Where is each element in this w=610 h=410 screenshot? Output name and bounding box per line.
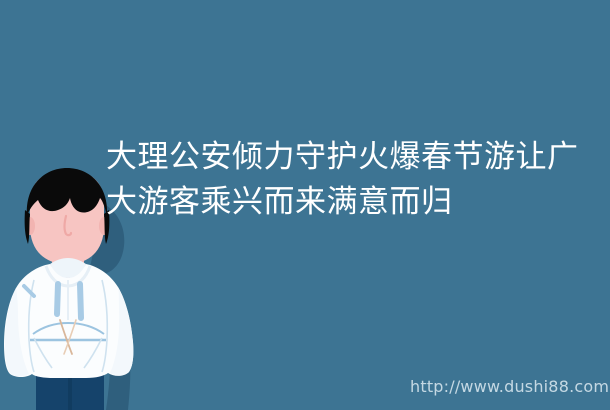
hoodie xyxy=(4,258,133,378)
watermark-url: http://www.dushi88.com.cn xyxy=(410,377,610,396)
image-canvas: 大理公安倾力守护火爆春节游让广大游客乘兴而来满意而归 http://www.du… xyxy=(0,0,610,410)
headline-text: 大理公安倾力守护火爆春节游让广大游客乘兴而来满意而归 xyxy=(106,134,584,224)
